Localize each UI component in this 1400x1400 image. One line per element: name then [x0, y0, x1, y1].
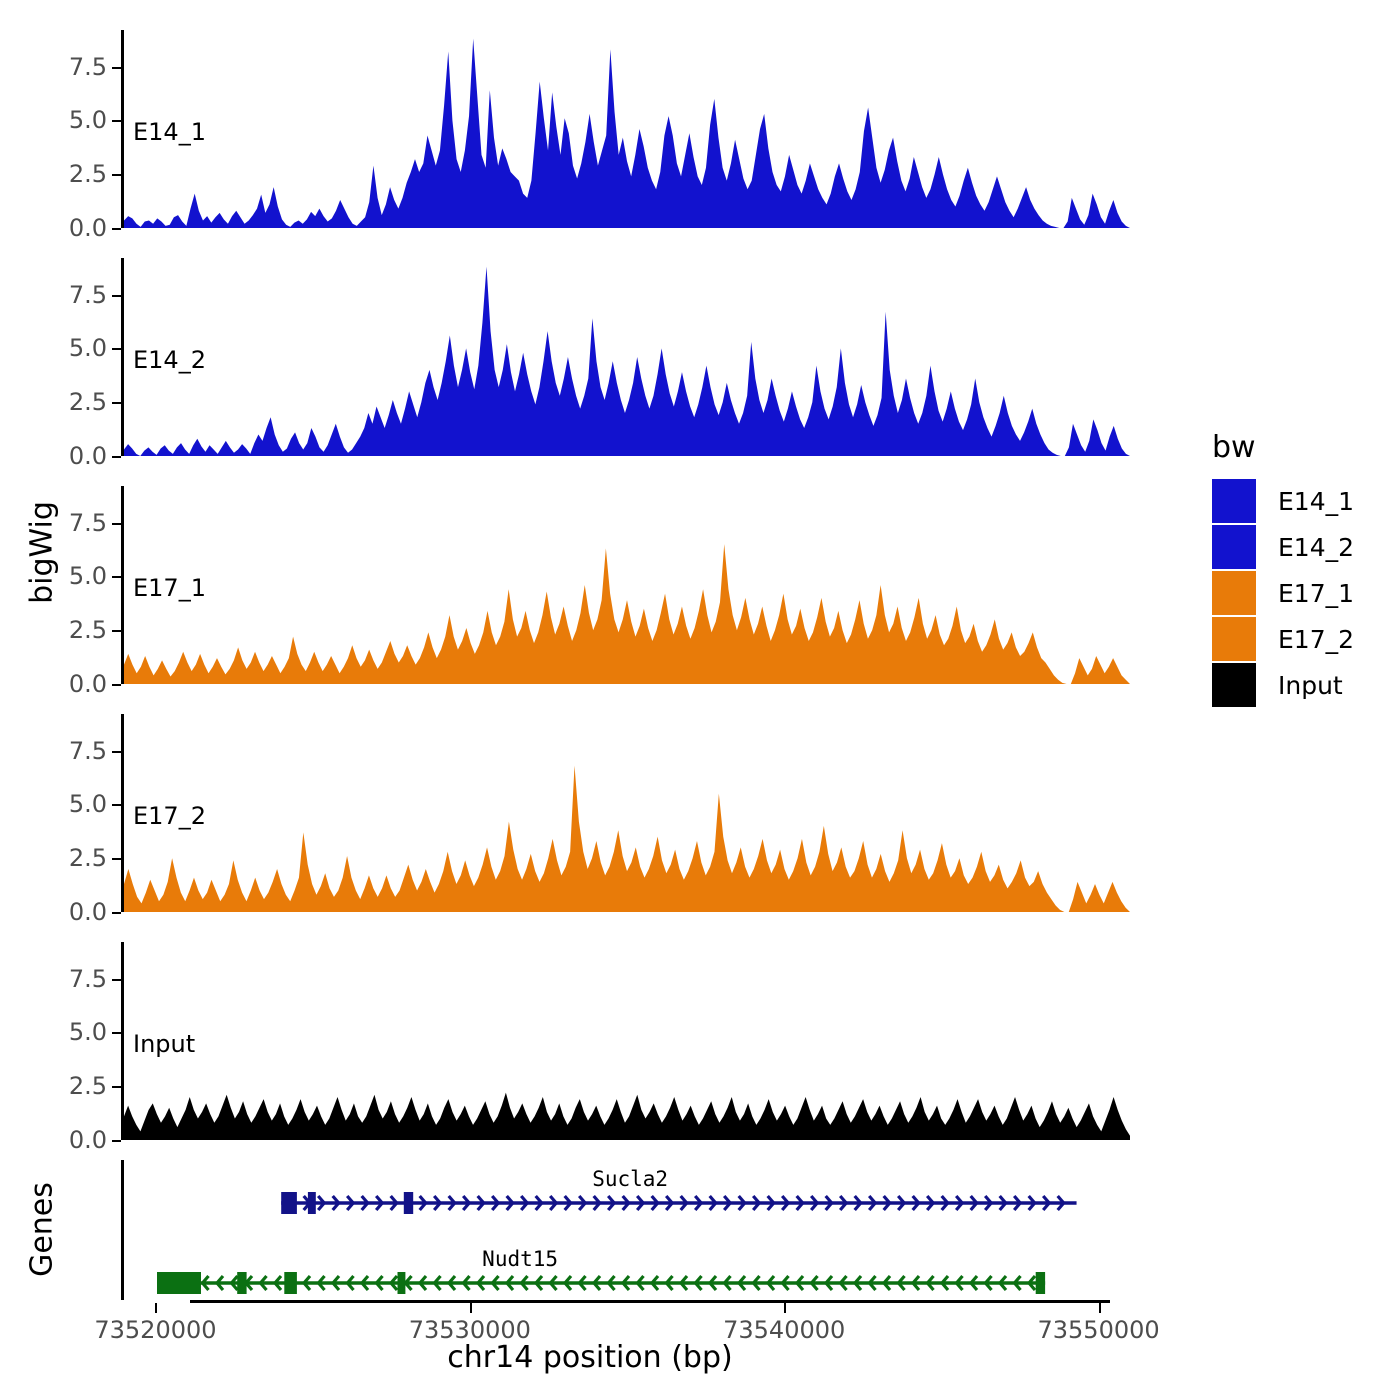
track-panel-e17_2: 0.02.55.07.5E17_2	[0, 714, 1180, 916]
y-axis-tick-label: 0.0	[17, 442, 107, 470]
x-axis-tick	[155, 1303, 157, 1313]
y-axis-tick	[112, 751, 121, 753]
legend-swatch-input	[1212, 663, 1256, 707]
y-axis-tick	[112, 804, 121, 806]
x-axis-tick	[784, 1303, 786, 1313]
y-axis-tick	[112, 228, 121, 230]
legend-item-e17_2[interactable]: E17_2	[1212, 617, 1354, 661]
legend-item-input[interactable]: Input	[1212, 663, 1354, 707]
y-axis-tick-label: 7.5	[17, 509, 107, 537]
x-axis-tick	[1099, 1303, 1101, 1313]
track-panel-input: 0.02.55.07.5Input	[0, 942, 1180, 1144]
y-axis-tick-label: 5.0	[17, 1018, 107, 1046]
legend-swatch-e17_2	[1212, 617, 1256, 661]
legend-label: E14_2	[1278, 533, 1354, 562]
y-axis-tick	[112, 120, 121, 122]
y-axis-tick-label: 0.0	[17, 670, 107, 698]
y-axis-tick-label: 2.5	[17, 616, 107, 644]
track-area-e14_2	[124, 258, 1130, 456]
x-axis-line	[190, 1300, 1110, 1303]
y-axis-tick	[112, 174, 121, 176]
y-axis-tick-label: 7.5	[17, 281, 107, 309]
y-axis-tick-label: 2.5	[17, 388, 107, 416]
y-axis-tick	[112, 1032, 121, 1034]
legend-item-e14_2[interactable]: E14_2	[1212, 525, 1354, 569]
y-axis-tick	[112, 630, 121, 632]
gene-track-glyph	[0, 1155, 1180, 1304]
gene-nudt15[interactable]: Nudt15	[0, 1155, 1180, 1300]
y-axis-tick-label: 5.0	[17, 106, 107, 134]
y-axis-tick	[112, 1086, 121, 1088]
y-axis-tick	[112, 1140, 121, 1142]
y-axis-tick-label: 7.5	[17, 737, 107, 765]
legend-swatch-e14_1	[1212, 479, 1256, 523]
y-axis-tick-label: 5.0	[17, 562, 107, 590]
y-axis-tick	[112, 684, 121, 686]
track-area-e14_1	[124, 30, 1130, 228]
y-axis-tick	[112, 979, 121, 981]
genes-layer: Sucla2 Nudt15	[0, 1155, 1180, 1300]
y-axis-tick	[112, 523, 121, 525]
legend-label: E17_1	[1278, 579, 1354, 608]
legend-label: Input	[1278, 671, 1343, 700]
y-axis-tick-label: 5.0	[17, 334, 107, 362]
track-area-input	[124, 942, 1130, 1140]
track-area-e17_1	[124, 486, 1130, 684]
legend-label: E17_2	[1278, 625, 1354, 654]
legend-swatch-e17_1	[1212, 571, 1256, 615]
track-panel-e17_1: 0.02.55.07.5E17_1	[0, 486, 1180, 688]
y-axis-tick	[112, 295, 121, 297]
y-axis-tick-label: 5.0	[17, 790, 107, 818]
legend-item-e14_1[interactable]: E14_1	[1212, 479, 1354, 523]
x-axis-title: chr14 position (bp)	[0, 1340, 1180, 1375]
track-panel-e14_1: 0.02.55.07.5E14_1	[0, 30, 1180, 232]
legend: bw E14_1E14_2E17_1E17_2Input	[1212, 430, 1354, 709]
legend-item-e17_1[interactable]: E17_1	[1212, 571, 1354, 615]
legend-swatch-e14_2	[1212, 525, 1256, 569]
y-axis-tick	[112, 912, 121, 914]
y-axis-tick	[112, 576, 121, 578]
genes-panel: Sucla2 Nudt15	[0, 1155, 1180, 1300]
y-axis-tick-label: 2.5	[17, 160, 107, 188]
track-panel-e14_2: 0.02.55.07.5E14_2	[0, 258, 1180, 460]
gene-label-nudt15: Nudt15	[482, 1247, 558, 1271]
y-axis-tick-label: 0.0	[17, 214, 107, 242]
y-axis-tick-label: 0.0	[17, 1126, 107, 1154]
x-axis-tick	[470, 1303, 472, 1313]
y-axis-tick-label: 0.0	[17, 898, 107, 926]
y-axis-tick	[112, 456, 121, 458]
y-axis-tick-label: 2.5	[17, 844, 107, 872]
track-area-e17_2	[124, 714, 1130, 912]
legend-title: bw	[1212, 430, 1354, 465]
legend-label: E14_1	[1278, 487, 1354, 516]
y-axis-tick	[112, 402, 121, 404]
y-axis-tick-label: 2.5	[17, 1072, 107, 1100]
legend-items: E14_1E14_2E17_1E17_2Input	[1212, 479, 1354, 707]
y-axis-tick	[112, 858, 121, 860]
y-axis-tick-label: 7.5	[17, 965, 107, 993]
y-axis-tick	[112, 348, 121, 350]
y-axis-tick	[112, 67, 121, 69]
y-axis-tick-label: 7.5	[17, 53, 107, 81]
